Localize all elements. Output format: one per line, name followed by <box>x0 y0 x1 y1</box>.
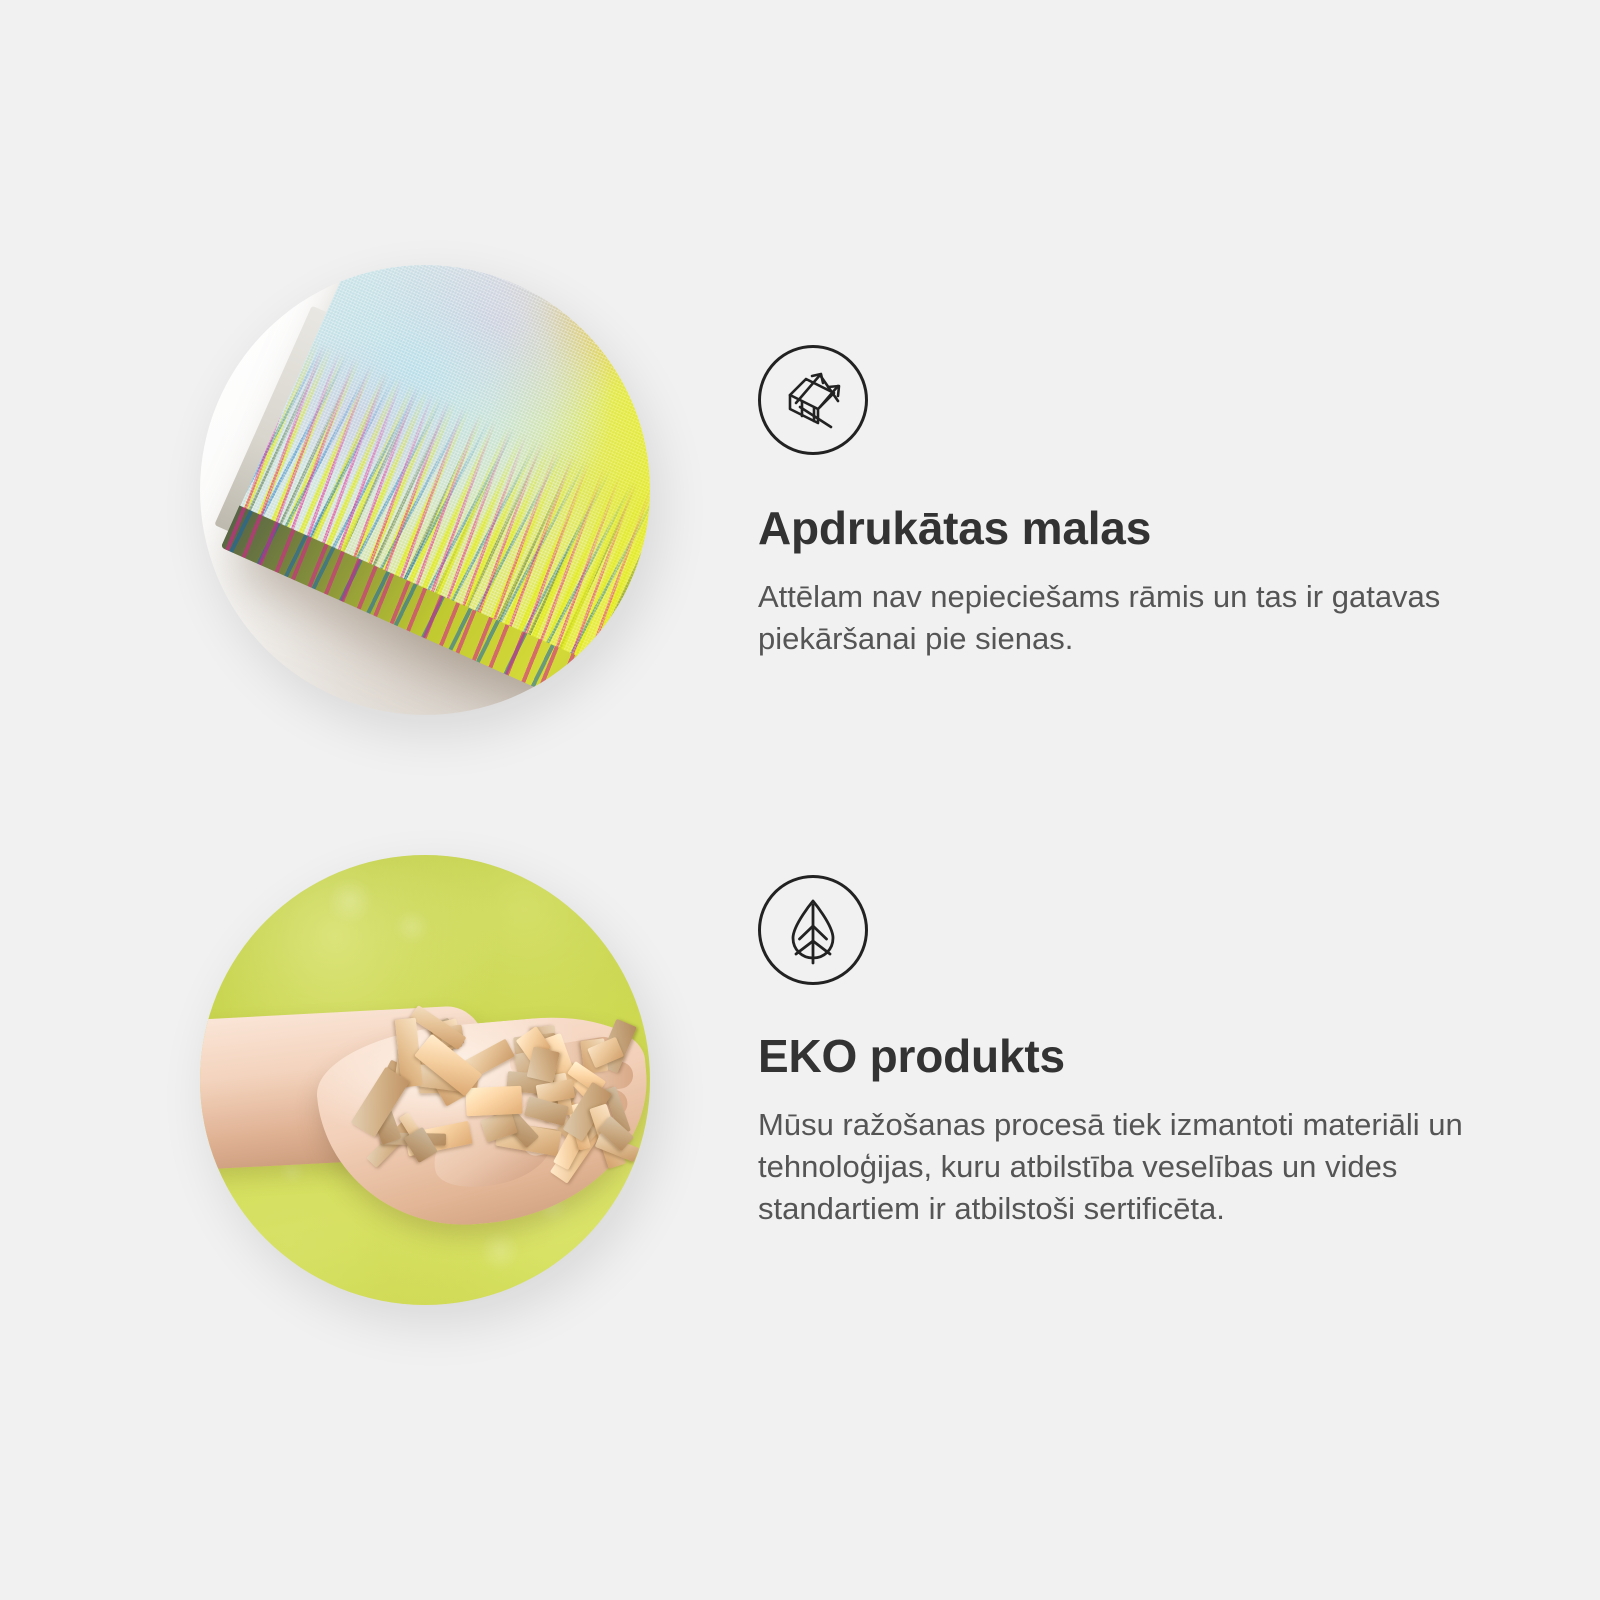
leaf-icon <box>758 875 868 985</box>
photo-clip-circle <box>200 855 650 1305</box>
feature-description: Mūsu ražošanas procesā tiek izmantoti ma… <box>758 1104 1478 1230</box>
printed-edges-icon <box>758 345 868 455</box>
feature-infographic-page: Apdrukātas malas Attēlam nav nepieciešam… <box>0 0 1600 1600</box>
printed-edges-glyph <box>776 363 850 437</box>
photo-clip-circle <box>200 265 650 715</box>
canvas-corner-photo <box>200 265 650 715</box>
feature-description: Attēlam nav nepieciešams rāmis un tas ir… <box>758 576 1478 660</box>
feature-title: EKO produkts <box>758 1031 1498 1082</box>
feature-title: Apdrukātas malas <box>758 503 1498 554</box>
feature-text-column: EKO produkts Mūsu ražošanas procesā tiek… <box>758 875 1498 1230</box>
leaf-glyph <box>776 893 850 967</box>
canvas-print-object <box>237 265 650 704</box>
green-meadow-background <box>200 855 650 1305</box>
feature-block-printed-edges: Apdrukātas malas Attēlam nav nepieciešam… <box>0 240 1600 780</box>
feature-text-column: Apdrukātas malas Attēlam nav nepieciešam… <box>758 345 1498 660</box>
wood-chip <box>465 1086 522 1116</box>
hand-wood-chips-photo <box>200 855 650 1305</box>
wood-chip-pile <box>346 1003 646 1183</box>
canvas-paint-strokes <box>237 340 650 705</box>
wall-background <box>200 265 650 715</box>
feature-block-eco-product: EKO produkts Mūsu ražošanas procesā tiek… <box>0 830 1600 1370</box>
